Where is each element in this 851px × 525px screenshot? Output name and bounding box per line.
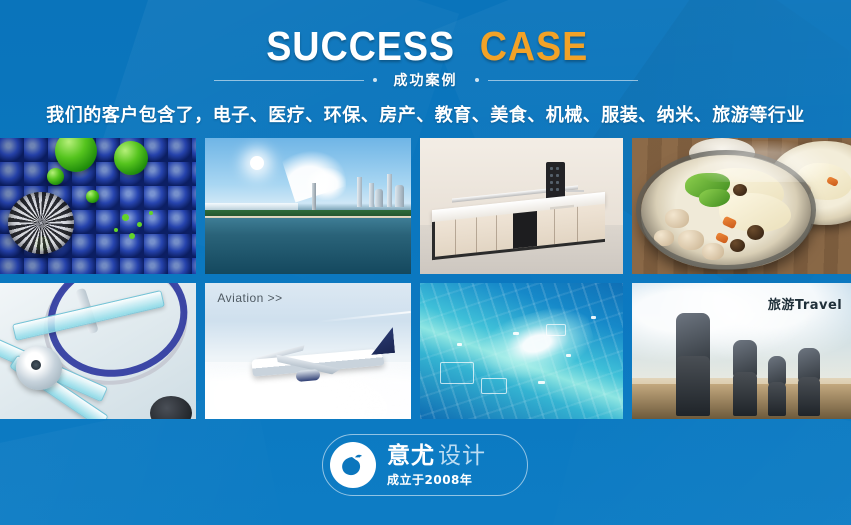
divider-dot-right xyxy=(475,78,479,82)
logo-name: 意尤设计 xyxy=(387,445,486,468)
plant-silo xyxy=(375,189,383,207)
environment-image xyxy=(205,138,411,274)
hiker-body xyxy=(798,377,820,416)
sun-glow xyxy=(250,156,264,170)
circuit-pad xyxy=(440,362,474,384)
contrail xyxy=(316,311,410,323)
nano-green-sphere xyxy=(114,141,148,175)
hiker-body xyxy=(676,356,710,416)
hiker xyxy=(768,356,786,416)
success-case-banner: SUCCESSCASE 成功案例 我们的客户包含了，电子、医疗、环保、房产、教育… xyxy=(0,0,851,525)
title-divider: 成功案例 xyxy=(0,70,851,90)
lab-furniture-image xyxy=(420,138,623,274)
logo-text-block: 意尤设计 成立于2008年 xyxy=(387,445,486,486)
aviation-image: Aviation >> xyxy=(205,283,411,419)
divider-dot-left xyxy=(373,78,377,82)
travel-caption: 旅游Travel xyxy=(768,294,842,313)
nano-particle xyxy=(114,228,118,232)
logo-name-light: 设计 xyxy=(438,443,486,469)
aviation-caption: Aviation >> xyxy=(217,291,282,305)
logo-tagline: 成立于2008年 xyxy=(387,474,486,486)
plant-silo xyxy=(395,185,404,207)
title-primary: SUCCESS xyxy=(267,26,456,67)
plant-tower xyxy=(357,177,362,207)
electronics-image xyxy=(420,283,623,419)
company-logo[interactable]: 意尤设计 成立于2008年 xyxy=(322,434,528,496)
hiker xyxy=(676,313,710,416)
case-gallery-grid: Aviation >> xyxy=(0,138,851,420)
gallery-item-aviation[interactable]: Aviation >> xyxy=(205,283,411,419)
hiker-body xyxy=(733,372,757,416)
gallery-item-medical[interactable] xyxy=(0,283,196,419)
divider-line-left xyxy=(214,80,364,81)
subtitle-cn: 成功案例 xyxy=(386,70,466,90)
airplane-engine xyxy=(295,369,320,382)
page-title: SUCCESSCASE xyxy=(0,26,851,67)
plant-tower xyxy=(369,183,374,207)
gallery-item-travel[interactable]: 旅游Travel xyxy=(632,283,851,419)
fullerene-molecule xyxy=(8,192,74,254)
gallery-item-environment[interactable] xyxy=(205,138,411,274)
industrial-plant xyxy=(353,173,407,207)
circuit-pad xyxy=(546,324,566,336)
circuit-pad xyxy=(481,378,507,394)
stethoscope-earpiece xyxy=(150,396,192,419)
gallery-item-lab-furniture[interactable] xyxy=(420,138,623,274)
logo-name-bold: 意尤 xyxy=(387,443,435,469)
gallery-item-food[interactable] xyxy=(632,138,851,274)
nano-green-sphere xyxy=(47,168,64,185)
gallery-item-nanotech[interactable] xyxy=(0,138,196,274)
medical-image xyxy=(0,283,196,419)
nano-particle xyxy=(122,214,129,221)
industry-description: 我们的客户包含了，电子、医疗、环保、房产、教育、美食、机械、服装、纳米、旅游等行… xyxy=(0,101,851,127)
hiker-body xyxy=(768,382,786,417)
smokestack xyxy=(312,183,316,211)
banner-header: SUCCESSCASE 成功案例 我们的客户包含了，电子、医疗、环保、房产、教育… xyxy=(0,0,851,138)
water-surface xyxy=(205,218,411,274)
bench-faucet xyxy=(566,190,584,192)
hiker xyxy=(798,348,820,416)
divider-line-right xyxy=(488,80,638,81)
nano-green-sphere xyxy=(86,190,99,203)
hiker xyxy=(733,340,757,416)
travel-image: 旅游Travel xyxy=(632,283,851,419)
gallery-item-electronics[interactable] xyxy=(420,283,623,419)
stethoscope-chestpiece xyxy=(16,346,62,390)
nanotech-image xyxy=(0,138,196,274)
title-accent: CASE xyxy=(479,26,587,67)
food-image xyxy=(632,138,851,274)
steam xyxy=(698,141,829,182)
bird-mark-icon xyxy=(330,442,376,488)
plant-tower xyxy=(387,174,392,207)
